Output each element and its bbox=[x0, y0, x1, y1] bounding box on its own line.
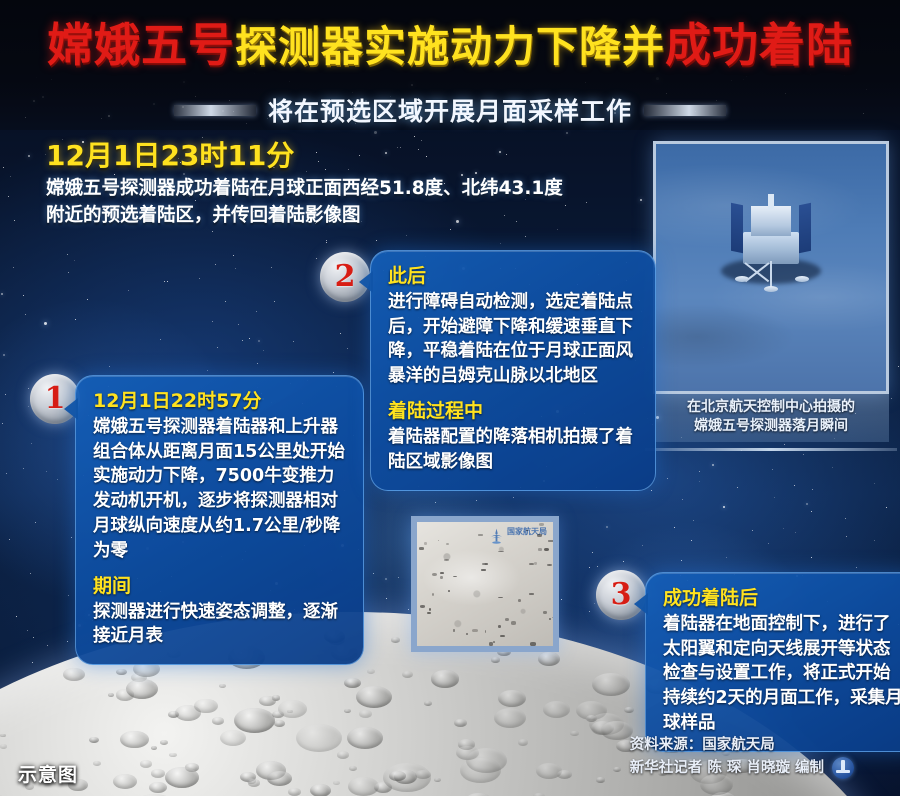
moon-crater bbox=[220, 730, 247, 746]
moon-crater bbox=[570, 731, 579, 737]
moon-crater bbox=[538, 652, 560, 666]
page-title: 嫦娥五号探测器实施动力下降并成功着陆 bbox=[0, 22, 900, 68]
subtitle-rule-left bbox=[174, 105, 256, 116]
moon-crater bbox=[491, 657, 501, 663]
moon-crater bbox=[63, 668, 85, 681]
step-2-heading: 此后 bbox=[388, 265, 638, 289]
caption-line-2: 嫦娥五号探测器落月瞬间 bbox=[659, 417, 883, 436]
lunar-regolith-texture: 国家航天局 bbox=[417, 522, 553, 646]
moon-crater bbox=[359, 710, 372, 718]
regolith-speck bbox=[419, 547, 424, 550]
regolith-speck bbox=[438, 540, 439, 541]
schematic-label: 示意图 bbox=[18, 760, 78, 787]
moon-crater bbox=[288, 788, 301, 796]
lander-photo-caption: 在北京航天控制中心拍摄的 嫦娥五号探测器落月瞬间 bbox=[653, 394, 889, 442]
moon-crater bbox=[586, 715, 597, 722]
step-callout-1: 12月1日22时57分 嫦娥五号探测器着陆器和上升器组合体从距离月面15公里处开… bbox=[75, 375, 364, 665]
moon-crater bbox=[234, 708, 275, 733]
regolith-speck bbox=[548, 540, 554, 541]
lead-timestamp: 12月1日23时11分 bbox=[46, 140, 646, 172]
moon-crater bbox=[296, 724, 342, 753]
step-3-body: 着陆器在地面控制下，进行了太阳翼和定向天线展开等状态检查与设置工作，将正式开始持… bbox=[663, 612, 900, 736]
regolith-speck bbox=[505, 618, 509, 622]
title-segment-1: 嫦娥五号 bbox=[47, 18, 235, 72]
moon-crater bbox=[116, 689, 135, 701]
moon-crater bbox=[431, 670, 459, 687]
solar-panel-right bbox=[799, 203, 811, 254]
regolith-speck bbox=[453, 629, 455, 632]
moon-crater bbox=[212, 717, 224, 725]
landing-leg bbox=[770, 261, 772, 287]
regolith-speck bbox=[529, 563, 534, 566]
moon-crater bbox=[151, 769, 165, 778]
moon-crater bbox=[160, 740, 169, 746]
regolith-speck bbox=[432, 573, 438, 577]
moon-crater bbox=[596, 777, 606, 783]
subtitle-rule-right bbox=[644, 105, 726, 116]
lead-body-line-1: 嫦娥五号探测器成功着陆在月球正面西经51.8度、北纬43.1度 bbox=[46, 176, 646, 203]
step-number-2: 2 bbox=[335, 262, 356, 292]
caption-divider bbox=[645, 448, 897, 451]
regolith-speck bbox=[481, 569, 486, 571]
subtitle-row: 将在预选区域开展月面采样工作 bbox=[0, 92, 900, 128]
landing-area-image: 国家航天局 bbox=[411, 516, 559, 652]
regolith-speck bbox=[446, 543, 449, 545]
moon-crater bbox=[140, 760, 153, 768]
moon-crater bbox=[601, 721, 633, 741]
moon-crater bbox=[337, 751, 350, 759]
step-1-body: 嫦娥五号探测器着陆器和上升器组合体从距离月面15公里处开始实施动力下降，7500… bbox=[93, 415, 346, 564]
moon-crater bbox=[454, 719, 467, 727]
moon-crater bbox=[613, 767, 621, 772]
step-2-body: 进行障碍自动检测，选定着陆点后，开始避障下降和缓速垂直下降，平稳着陆在位于月球正… bbox=[388, 290, 638, 389]
moon-crater bbox=[344, 709, 351, 713]
moon-crater bbox=[344, 678, 361, 689]
regolith-speck bbox=[453, 576, 457, 578]
antenna-mast bbox=[768, 194, 774, 210]
credit-byline-row: 新华社记者 陈 琛 肖晓璇 编制 bbox=[630, 757, 854, 780]
moon-crater bbox=[120, 731, 148, 749]
moon-crater bbox=[108, 693, 114, 697]
regolith-speck bbox=[493, 641, 496, 643]
page-subtitle: 将在预选区域开展月面采样工作 bbox=[268, 92, 632, 128]
step-number-3: 3 bbox=[611, 580, 632, 610]
moon-crater bbox=[149, 782, 167, 793]
landing-footpad bbox=[795, 276, 809, 282]
regolith-speck bbox=[440, 572, 444, 574]
credit-source: 资料来源：国家航天局 bbox=[630, 734, 854, 757]
regolith-speck bbox=[482, 563, 488, 565]
moon-crater bbox=[424, 701, 433, 706]
moon-crater bbox=[543, 701, 570, 718]
moon-crater bbox=[259, 696, 276, 706]
moon-crater bbox=[624, 707, 634, 713]
step-1-heading: 12月1日22时57分 bbox=[93, 390, 346, 414]
step-callout-2: 此后 进行障碍自动检测，选定着陆点后，开始避障下降和缓速垂直下降，平稳着陆在位于… bbox=[370, 250, 656, 491]
landing-footpad bbox=[764, 286, 778, 292]
spacer bbox=[93, 564, 346, 575]
title-segment-3: 成功着陆 bbox=[665, 18, 853, 72]
moon-crater bbox=[272, 711, 284, 719]
regolith-speck bbox=[426, 646, 432, 650]
regolith-speck bbox=[530, 642, 536, 646]
ascender-module bbox=[751, 206, 791, 236]
regolith-speck bbox=[537, 534, 541, 537]
moon-crater bbox=[0, 744, 7, 749]
regolith-speck bbox=[432, 593, 434, 596]
lead-block: 12月1日23时11分 嫦娥五号探测器成功着陆在月球正面西经51.8度、北纬43… bbox=[46, 140, 646, 230]
moon-crater bbox=[247, 778, 256, 783]
moon-crater bbox=[165, 767, 200, 789]
regolith-speck bbox=[466, 633, 468, 634]
moon-crater bbox=[333, 781, 340, 785]
header-banner: 嫦娥五号探测器实施动力下降并成功着陆 将在预选区域开展月面采样工作 bbox=[0, 0, 900, 130]
lander-photo bbox=[653, 141, 889, 394]
lander-body bbox=[743, 232, 799, 264]
step-2-heading-2: 着陆过程中 bbox=[388, 400, 638, 424]
moon-crater bbox=[0, 734, 6, 738]
regolith-speck bbox=[485, 630, 486, 633]
lead-body-line-2: 附近的预选着陆区，并传回着陆影像图 bbox=[46, 203, 646, 230]
title-segment-2: 探测器实施动力下降并 bbox=[235, 22, 665, 71]
moon-crater bbox=[498, 690, 526, 707]
lander-spacecraft-graphic bbox=[715, 192, 827, 312]
moon-crater bbox=[367, 669, 375, 674]
moon-crater bbox=[356, 686, 392, 708]
moon-crater bbox=[219, 684, 226, 688]
regolith-speck bbox=[543, 611, 547, 614]
regolith-speck bbox=[424, 542, 427, 545]
spacer bbox=[388, 389, 638, 400]
regolith-speck bbox=[444, 559, 450, 561]
infographic-canvas: 示意图 嫦娥五号探测器实施动力下降并成功着陆 将在预选区域开展月面采样工作 12… bbox=[0, 0, 900, 796]
solar-panel-left bbox=[731, 203, 743, 254]
regolith-speck bbox=[549, 618, 551, 620]
regolith-speck bbox=[547, 564, 553, 566]
regolith-speck bbox=[544, 548, 549, 552]
moon-crater bbox=[349, 766, 358, 772]
moon-crater bbox=[557, 770, 572, 779]
regolith-speck bbox=[529, 593, 534, 595]
regolith-speck bbox=[498, 551, 504, 552]
moon-crater bbox=[310, 784, 331, 796]
moon-crater bbox=[518, 739, 529, 746]
regolith-speck bbox=[440, 576, 443, 580]
moon-crater bbox=[347, 727, 383, 749]
regolith-speck bbox=[472, 629, 477, 632]
regolith-speck bbox=[539, 523, 544, 526]
regolith-speck bbox=[500, 635, 505, 638]
regolith-speck bbox=[478, 534, 483, 536]
moon-crater bbox=[592, 673, 630, 697]
regolith-speck bbox=[518, 599, 521, 602]
moon-crater bbox=[434, 778, 441, 782]
moon-crater bbox=[391, 637, 400, 643]
step-1-body-2: 探测器进行快速姿态调整，逐渐接近月表 bbox=[93, 600, 346, 650]
moon-crater bbox=[93, 761, 101, 766]
footer-credits: 资料来源：国家航天局 新华社记者 陈 琛 肖晓璇 编制 bbox=[630, 734, 854, 780]
cnsa-logo-icon bbox=[489, 528, 504, 545]
moon-crater bbox=[194, 699, 218, 714]
regolith-speck bbox=[534, 562, 537, 565]
moon-crater bbox=[169, 753, 177, 758]
step-3-heading: 成功着陆后 bbox=[663, 587, 900, 611]
moon-crater bbox=[267, 771, 292, 786]
regolith-speck bbox=[489, 642, 493, 646]
regolith-speck bbox=[538, 548, 542, 551]
moon-crater bbox=[89, 737, 100, 744]
step-number-1: 1 bbox=[45, 384, 66, 414]
regolith-speck bbox=[511, 621, 516, 624]
credit-byline: 新华社记者 陈 琛 肖晓璇 编制 bbox=[630, 757, 824, 780]
regolith-speck bbox=[448, 590, 450, 592]
step-1-heading-2: 期间 bbox=[93, 575, 346, 599]
moon-crater bbox=[402, 671, 413, 678]
regolith-speck bbox=[427, 612, 431, 614]
regolith-speck bbox=[420, 605, 426, 608]
regolith-speck bbox=[498, 625, 501, 628]
step-callout-3: 成功着陆后 着陆器在地面控制下，进行了太阳翼和定向天线展开等状态检查与设置工作，… bbox=[645, 572, 900, 752]
moon-crater bbox=[116, 669, 126, 675]
regolith-speck bbox=[498, 597, 503, 599]
step-2-body-2: 着陆器配置的降落相机拍摄了着陆区域影像图 bbox=[388, 425, 638, 475]
caption-line-1: 在北京航天控制中心拍摄的 bbox=[659, 398, 883, 417]
regolith-speck bbox=[552, 617, 557, 619]
landing-footpad bbox=[735, 276, 749, 282]
moon-crater bbox=[274, 720, 285, 727]
cnsa-emblem-icon bbox=[832, 757, 854, 779]
moon-crater bbox=[494, 708, 526, 728]
moon-crater bbox=[113, 774, 137, 789]
moon-crater bbox=[151, 746, 157, 750]
